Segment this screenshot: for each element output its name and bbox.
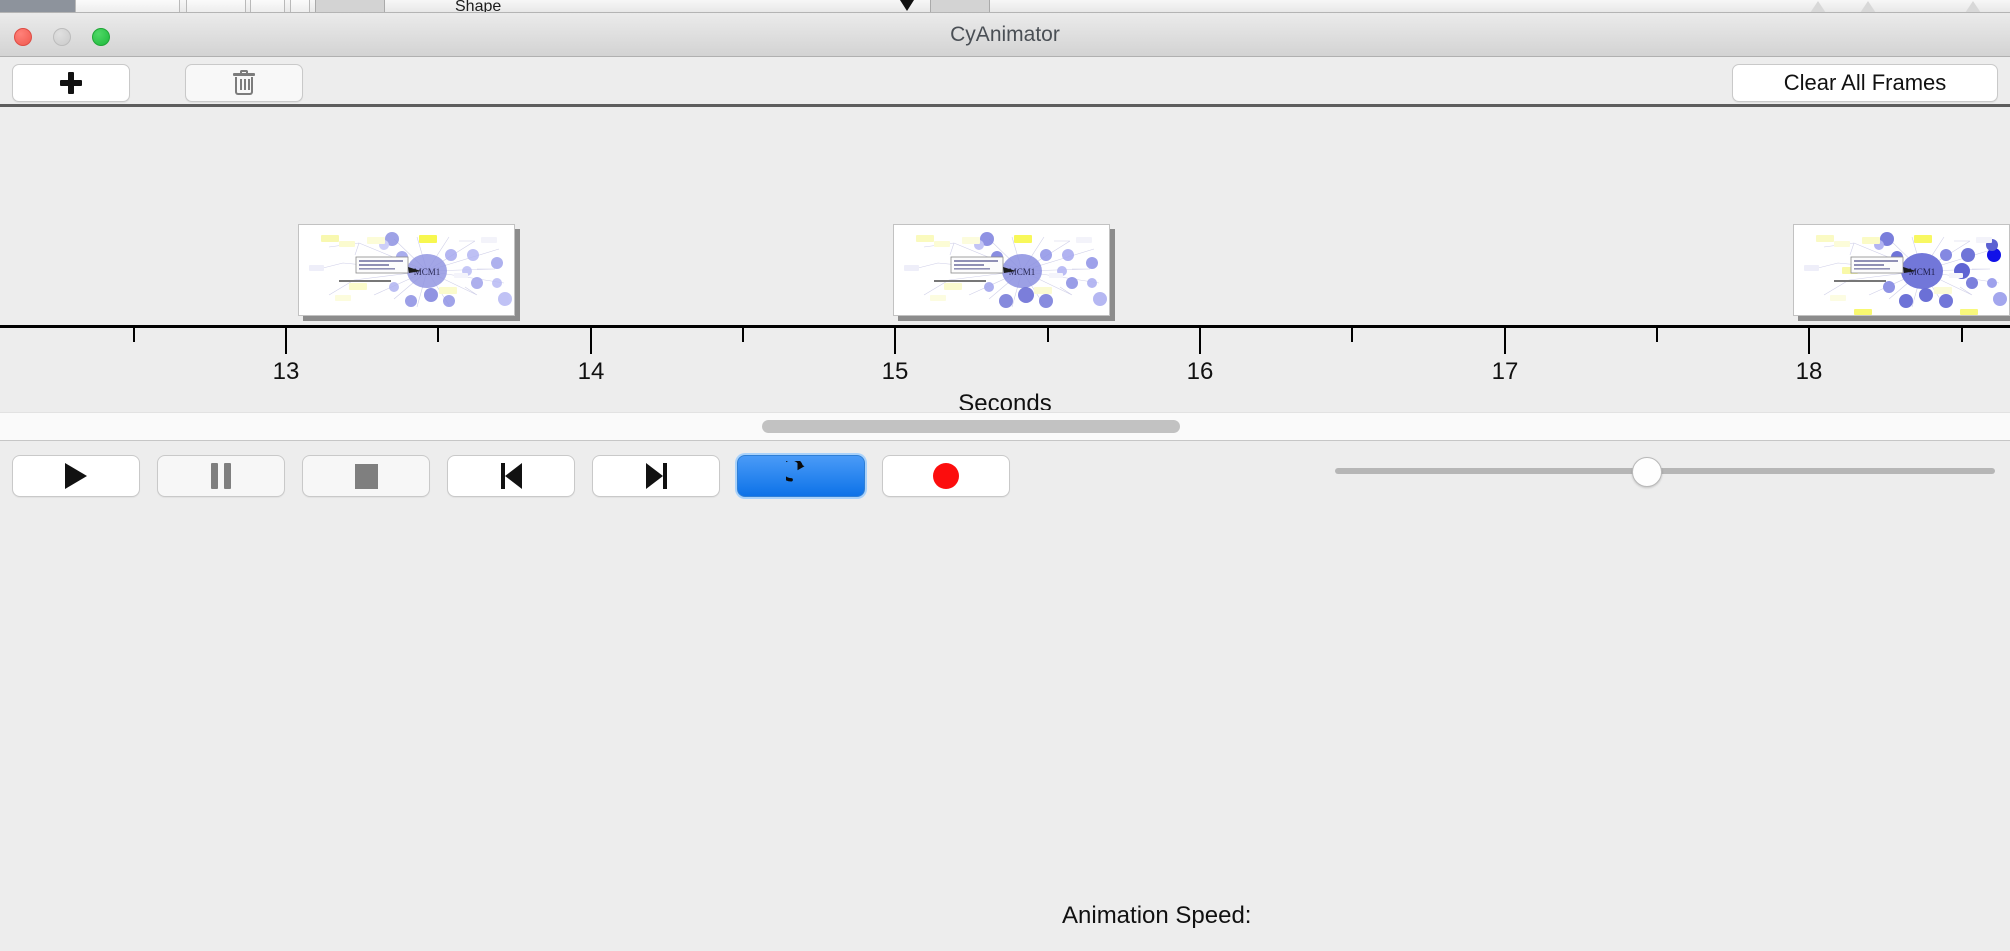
background-window-triangle-icon xyxy=(1860,1,1876,13)
timeline-tick-label: 17 xyxy=(1492,358,1519,386)
timeline-tick-label: 16 xyxy=(1187,358,1214,386)
timeline-axis-title: Seconds xyxy=(0,390,2010,410)
timeline-tick-minor xyxy=(1656,328,1658,342)
timeline-tick-major xyxy=(1808,328,1810,354)
timeline-tick-minor xyxy=(1961,328,1963,342)
record-button[interactable] xyxy=(882,455,1010,497)
background-window-segment xyxy=(186,0,246,13)
timeline-panel[interactable]: MCM1 xyxy=(0,110,2010,410)
timeline-tick-major xyxy=(894,328,896,354)
toolbar: Clear All Frames xyxy=(0,57,2010,107)
background-window-notch-icon xyxy=(900,0,914,11)
plus-icon xyxy=(59,71,83,95)
background-window-tab xyxy=(930,0,990,13)
svg-text:MCM1: MCM1 xyxy=(414,267,441,277)
playback-toolbar: Animation Speed: xyxy=(0,440,2010,510)
skip-previous-icon xyxy=(501,463,522,489)
delete-frame-button[interactable] xyxy=(185,64,303,102)
timeline-tick-major xyxy=(285,328,287,354)
record-icon xyxy=(933,463,959,489)
timeline-tick-minor xyxy=(437,328,439,342)
frame-thumbnail-3[interactable]: MCM1 xyxy=(1793,224,2010,320)
stop-button[interactable] xyxy=(302,455,430,497)
loop-refresh-icon xyxy=(786,461,816,491)
background-window-triangle-icon xyxy=(1965,1,1981,13)
svg-text:MCM1: MCM1 xyxy=(1909,267,1936,277)
skip-next-icon xyxy=(646,463,667,489)
add-frame-button[interactable] xyxy=(12,64,130,102)
timeline-scrollbar[interactable] xyxy=(0,412,2010,440)
clear-all-frames-button[interactable]: Clear All Frames xyxy=(1732,64,1998,102)
window-title: CyAnimator xyxy=(0,13,2010,57)
background-window-dark-panel xyxy=(0,0,75,13)
timeline-tick-major xyxy=(1504,328,1506,354)
timeline-scrollbar-thumb[interactable] xyxy=(762,420,1180,433)
play-icon xyxy=(65,463,87,489)
timeline-tick-label: 13 xyxy=(273,358,300,386)
frame-thumbnail-1[interactable]: MCM1 xyxy=(298,224,520,320)
skip-next-button[interactable] xyxy=(592,455,720,497)
stop-icon xyxy=(355,464,378,489)
timeline-axis xyxy=(0,325,2010,328)
timeline-tick-minor xyxy=(742,328,744,342)
skip-previous-button[interactable] xyxy=(447,455,575,497)
svg-text:MCM1: MCM1 xyxy=(1009,267,1036,277)
animation-speed-label: Animation Speed: xyxy=(1062,881,1251,951)
timeline-tick-major xyxy=(590,328,592,354)
timeline-tick-label: 15 xyxy=(882,358,909,386)
timeline-tick-minor xyxy=(1047,328,1049,342)
clear-all-frames-label: Clear All Frames xyxy=(1784,70,1947,96)
frame-thumbnail-2[interactable]: MCM1 xyxy=(893,224,1115,320)
background-window-segment xyxy=(250,0,285,13)
animation-speed-slider[interactable] xyxy=(1335,468,1995,474)
timeline-tick-minor xyxy=(133,328,135,342)
loop-button[interactable] xyxy=(737,455,865,497)
background-window-segment xyxy=(290,0,310,13)
pause-button[interactable] xyxy=(157,455,285,497)
window-titlebar: CyAnimator xyxy=(0,13,2010,57)
trash-icon xyxy=(233,70,255,96)
network-preview: MCM1 xyxy=(1793,224,2010,316)
background-window: Shape xyxy=(0,0,2010,13)
play-button[interactable] xyxy=(12,455,140,497)
network-preview: MCM1 xyxy=(893,224,1110,316)
background-window-segment xyxy=(75,0,180,13)
timeline-tick-minor xyxy=(1351,328,1353,342)
timeline-tick-label: 18 xyxy=(1796,358,1823,386)
network-preview: MCM1 xyxy=(298,224,515,316)
timeline-tick-major xyxy=(1199,328,1201,354)
background-window-partial-label: Shape xyxy=(455,0,550,12)
background-window-tab xyxy=(315,0,385,13)
animation-speed-slider-thumb[interactable] xyxy=(1632,457,1662,487)
background-window-triangle-icon xyxy=(1810,1,1826,13)
pause-icon xyxy=(211,463,231,489)
timeline-tick-label: 14 xyxy=(578,358,605,386)
